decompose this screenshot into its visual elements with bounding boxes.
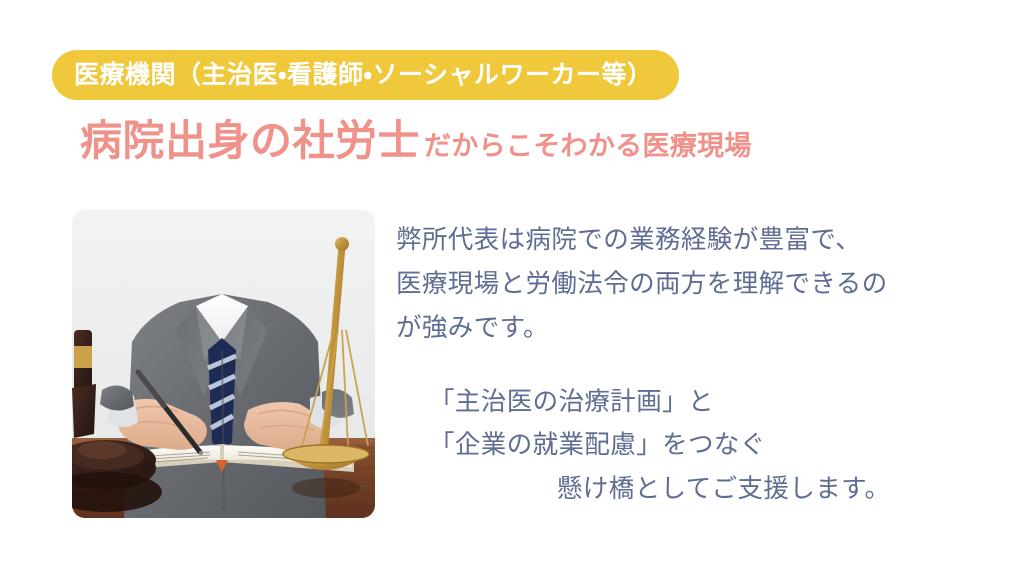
page-title-subtext: だからこそわかる医療現場 xyxy=(424,132,752,160)
page-title-emphasis: 病院出身の社労士 xyxy=(80,119,420,163)
status-badge: 医療機関（主治医・看護師・ソーシャルワーカー等） xyxy=(52,50,679,100)
paragraph-two-line-2: 「企業の就業配慮」をつなぐ xyxy=(429,424,996,468)
page-title: 病院出身の社労士 だからこそわかる医療現場 xyxy=(80,119,752,163)
paragraph-one-line-3: が強みです。 xyxy=(396,307,996,351)
paragraph-two: 「主治医の治療計画」と 「企業の就業配慮」をつなぐ 懸け橋としてご支援します。 xyxy=(396,381,996,513)
paragraph-one-line-1: 弊所代表は病院での業務経験が豊富で、 xyxy=(396,219,996,263)
paragraph-two-line-1: 「主治医の治療計画」と xyxy=(429,381,996,425)
paragraph-one-line-2: 医療現場と労働法令の両方を理解できるの xyxy=(396,263,996,307)
photo-illustration xyxy=(72,210,375,518)
photo-lawyer-writing xyxy=(72,210,375,518)
paragraph-two-line-3: 懸け橋としてご支援します。 xyxy=(429,468,996,512)
slide-canvas: 医療機関（主治医・看護師・ソーシャルワーカー等） 病院出身の社労士 だからこそわ… xyxy=(0,0,1024,576)
body-text-column: 弊所代表は病院での業務経験が豊富で、 医療現場と労働法令の両方を理解できるの が… xyxy=(396,219,996,512)
paragraph-one: 弊所代表は病院での業務経験が豊富で、 医療現場と労働法令の両方を理解できるの が… xyxy=(396,219,996,351)
